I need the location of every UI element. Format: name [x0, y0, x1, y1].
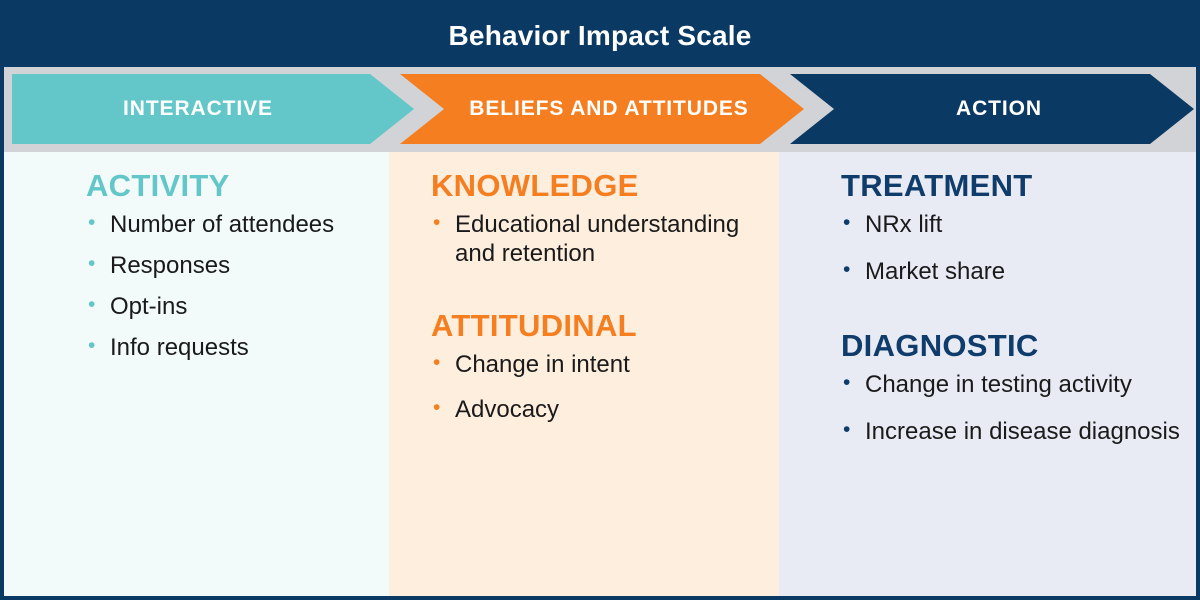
column-action: TREATMENT NRx lift Market share DIAGNOST…	[779, 152, 1196, 596]
list-item: Increase in disease diagnosis	[841, 417, 1182, 446]
bullet-list-activity: Number of attendees Responses Opt-ins In…	[86, 210, 375, 363]
list-item: Responses	[86, 251, 375, 280]
group-knowledge: KNOWLEDGE Educational understanding and …	[431, 168, 765, 268]
bullet-list-diagnostic: Change in testing activity Increase in d…	[841, 370, 1182, 447]
group-diagnostic: DIAGNOSTIC Change in testing activity In…	[841, 328, 1182, 446]
group-heading-knowledge: KNOWLEDGE	[431, 168, 765, 204]
list-item: Advocacy	[431, 395, 765, 424]
column-beliefs-and-attitudes: KNOWLEDGE Educational understanding and …	[389, 152, 779, 596]
bullet-list-attitudinal: Change in intent Advocacy	[431, 350, 765, 425]
stage-arrow-band: INTERACTIVE BELIEFS AND ATTITUDES ACTION	[4, 67, 1196, 152]
bullet-list-knowledge: Educational understanding and retention	[431, 210, 765, 269]
column-interactive: ACTIVITY Number of attendees Responses O…	[4, 152, 389, 596]
group-heading-treatment: TREATMENT	[841, 168, 1182, 204]
stage-arrow-interactive: INTERACTIVE	[12, 74, 414, 144]
list-item: Number of attendees	[86, 210, 375, 239]
stage-arrow-action-label: ACTION	[790, 97, 1194, 121]
group-activity: ACTIVITY Number of attendees Responses O…	[86, 168, 375, 363]
figure-title-bar: Behavior Impact Scale	[4, 4, 1196, 67]
group-treatment: TREATMENT NRx lift Market share	[841, 168, 1182, 286]
list-item: NRx lift	[841, 210, 1182, 239]
stage-arrow-beliefs-and-attitudes-label: BELIEFS AND ATTITUDES	[400, 97, 804, 121]
group-heading-activity: ACTIVITY	[86, 168, 375, 204]
stage-arrow-action: ACTION	[790, 74, 1194, 144]
stage-arrow-interactive-label: INTERACTIVE	[12, 97, 414, 121]
list-item: Change in intent	[431, 350, 765, 379]
list-item: Change in testing activity	[841, 370, 1182, 399]
list-item: Info requests	[86, 333, 375, 362]
stage-arrow-beliefs-and-attitudes: BELIEFS AND ATTITUDES	[400, 74, 804, 144]
list-item: Market share	[841, 257, 1182, 286]
behavior-impact-scale-figure: Behavior Impact Scale INTERACTIVE BELIEF…	[0, 0, 1200, 600]
group-heading-attitudinal: ATTITUDINAL	[431, 308, 765, 344]
bullet-list-treatment: NRx lift Market share	[841, 210, 1182, 287]
list-item: Educational understanding and retention	[431, 210, 765, 269]
list-item: Opt-ins	[86, 292, 375, 321]
group-attitudinal: ATTITUDINAL Change in intent Advocacy	[431, 308, 765, 424]
figure-title: Behavior Impact Scale	[449, 20, 752, 52]
content-columns: ACTIVITY Number of attendees Responses O…	[4, 152, 1196, 596]
group-heading-diagnostic: DIAGNOSTIC	[841, 328, 1182, 364]
